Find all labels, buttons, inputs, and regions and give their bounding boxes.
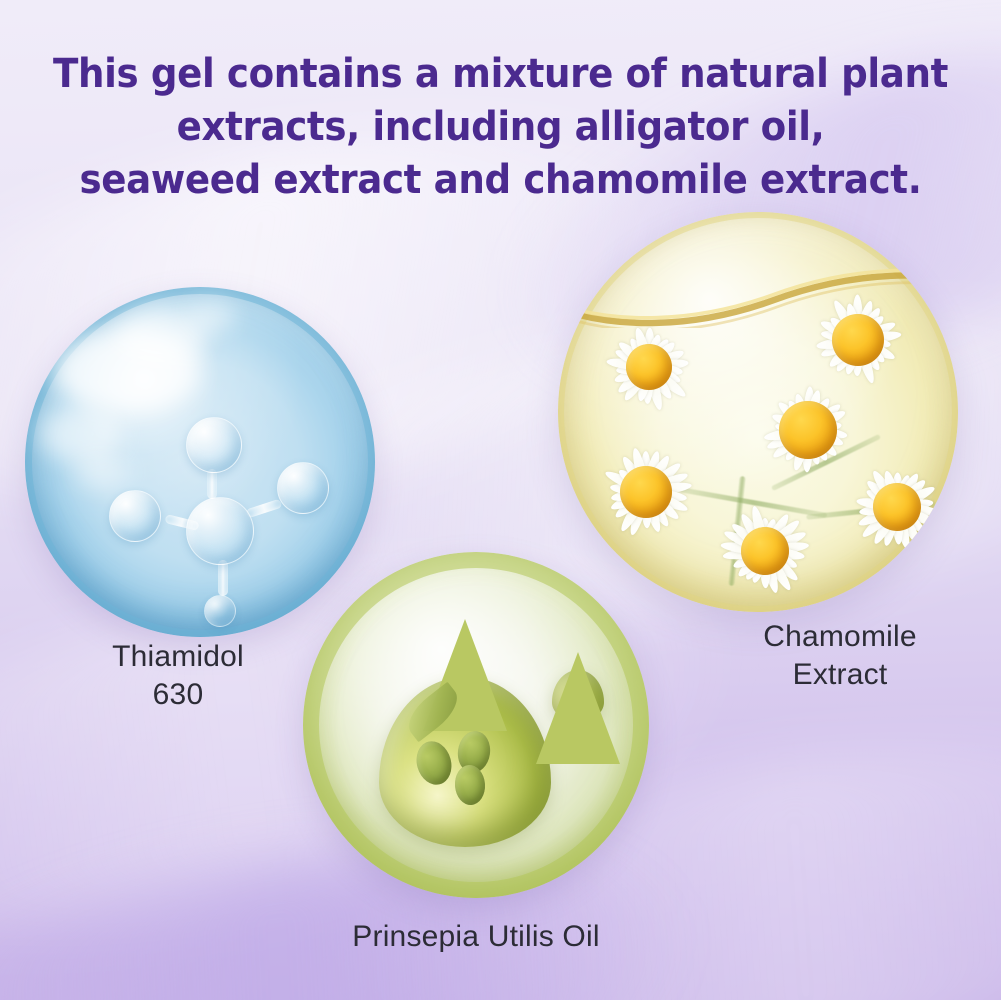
molecule-atom-bottom <box>204 595 236 627</box>
flower-disc <box>626 344 672 390</box>
molecule-atom-left <box>109 490 161 542</box>
ingredient-sphere-chamomile <box>558 212 958 612</box>
flower-disc <box>832 314 884 366</box>
ingredient-sphere-thiamidol <box>25 287 375 637</box>
gel-highlight <box>74 455 130 490</box>
ingredient-label-thiamidol: Thiamidol 630 <box>18 638 338 715</box>
ingredient-sphere-prinsepia <box>303 552 649 898</box>
olive-fruit <box>412 737 457 789</box>
gel-highlight <box>39 406 123 462</box>
ingredient-label-chamomile: Chamomile Extract <box>680 618 1000 695</box>
flower-disc <box>873 483 921 531</box>
oil-droplet-small <box>552 670 604 722</box>
chamomile-flower <box>822 432 958 582</box>
molecule-bond <box>218 560 228 596</box>
infographic-canvas: This gel contains a mixture of natural p… <box>0 0 1001 1000</box>
chamomile-flower <box>778 260 938 420</box>
headline-text: This gel contains a mixture of natural p… <box>35 48 966 208</box>
ingredient-label-prinsepia: Prinsepia Utilis Oil <box>216 918 736 956</box>
molecule-atom-top <box>186 417 242 473</box>
gel-highlight <box>186 301 235 333</box>
molecule-atom-center <box>186 497 254 565</box>
olive-fruit <box>453 764 486 806</box>
flower-disc <box>620 466 672 518</box>
chamomile-flower <box>690 476 840 612</box>
molecule-atom-right <box>277 462 329 514</box>
flower-disc <box>741 527 789 575</box>
molecule-bond <box>207 469 217 499</box>
